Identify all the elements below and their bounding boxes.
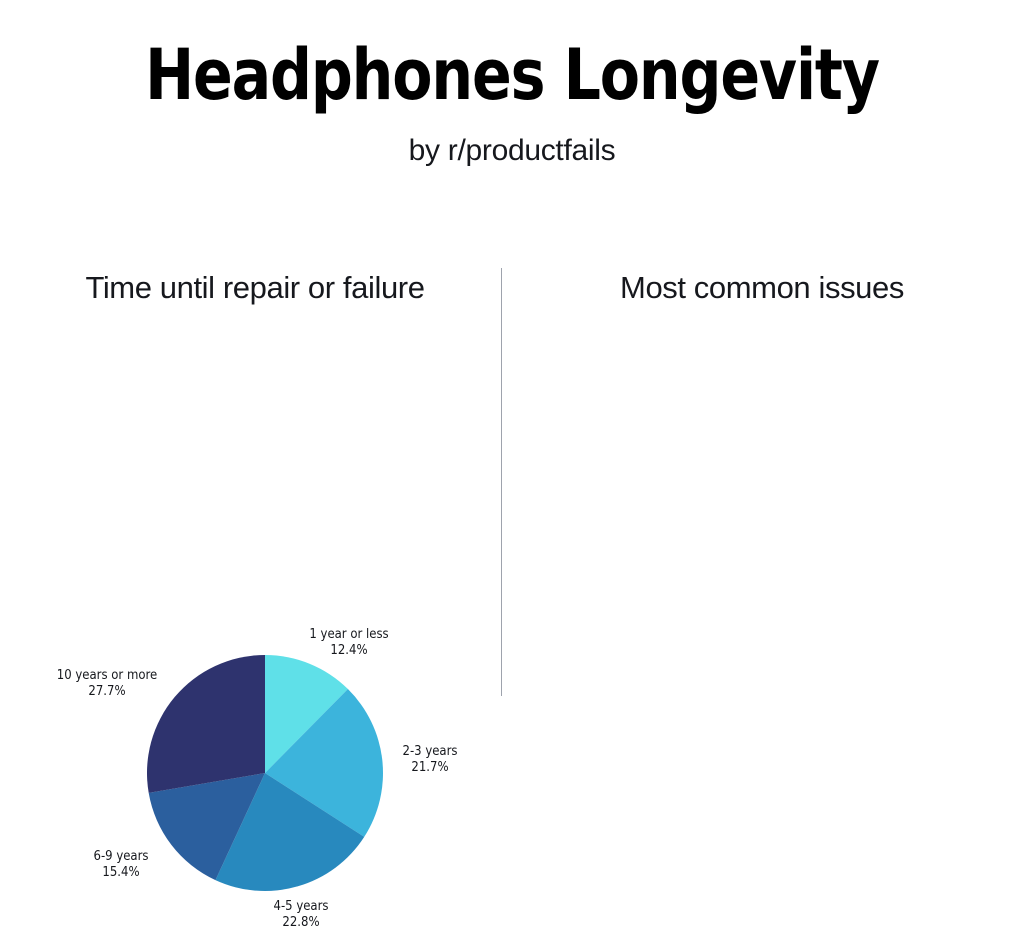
charts-area: Time until repair or failure 1 year or l… <box>0 255 1024 715</box>
pie-slice[interactable] <box>147 655 265 793</box>
pie-slice-label: 4-5 years22.8% <box>274 899 329 931</box>
pie-slice-label: 10 years or more27.7% <box>57 668 157 700</box>
pie-svg <box>147 655 383 891</box>
panel-common-issues: Most common issues Connection, Cable43.8… <box>502 255 1024 715</box>
left-chart-title: Time until repair or failure <box>4 269 506 307</box>
pie-label-value: 21.7% <box>403 760 458 776</box>
pie-label-value: 15.4% <box>94 865 149 881</box>
pie-label-name: 1 year or less <box>309 627 388 643</box>
pie-slice-label: 6-9 years15.4% <box>94 849 149 881</box>
pie-label-name: 2-3 years <box>403 744 458 760</box>
pie-slice-label: 1 year or less12.4% <box>309 627 388 659</box>
infographic-header: Headphones Longevity by r/productfails <box>0 0 1024 168</box>
pie-label-value: 12.4% <box>309 643 388 659</box>
pie-label-name: 6-9 years <box>94 849 149 865</box>
panel-time-until-failure: Time until repair or failure 1 year or l… <box>0 255 502 715</box>
left-pie-chart: 1 year or less12.4%2-3 years21.7%4-5 yea… <box>147 655 383 891</box>
page-title: Headphones Longevity <box>36 0 988 114</box>
pie-label-name: 10 years or more <box>57 668 157 684</box>
pie-label-name: 4-5 years <box>274 899 329 915</box>
page-subtitle: by r/productfails <box>0 114 1024 168</box>
pie-slice-label: 2-3 years21.7% <box>403 744 458 776</box>
right-chart-title: Most common issues <box>501 269 1023 307</box>
pie-label-value: 27.7% <box>57 684 157 700</box>
pie-label-value: 22.8% <box>274 915 329 931</box>
